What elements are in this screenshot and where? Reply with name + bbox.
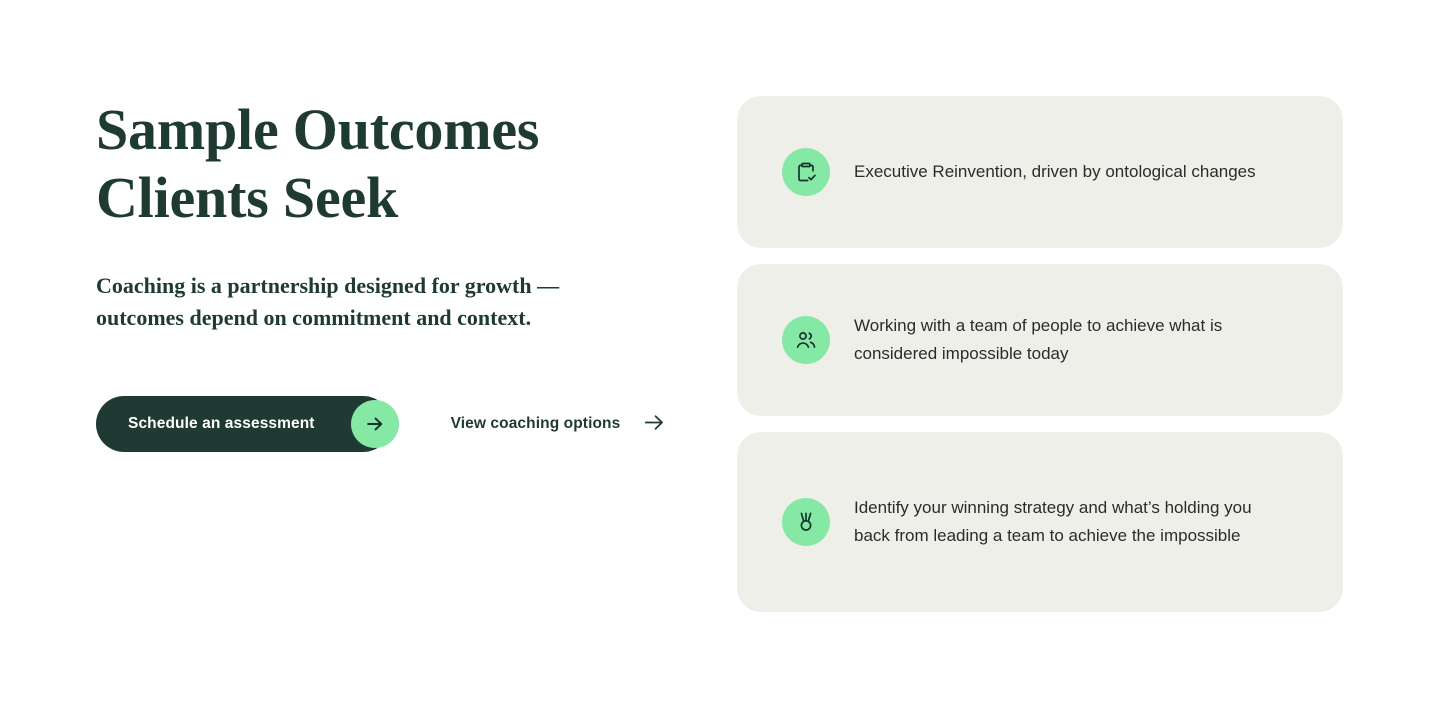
schedule-assessment-button[interactable]: Schedule an assessment: [96, 396, 391, 452]
arrow-right-icon: [642, 410, 667, 438]
outcomes-list: Executive Reinvention, driven by ontolog…: [737, 96, 1343, 612]
hero-section: Sample Outcomes Clients Seek Coaching is…: [96, 96, 676, 452]
outcome-card-text: Executive Reinvention, driven by ontolog…: [854, 158, 1256, 186]
outcome-card[interactable]: Identify your winning strategy and what’…: [737, 432, 1343, 612]
users-icon: [782, 316, 830, 364]
schedule-assessment-label: Schedule an assessment: [128, 415, 315, 433]
outcome-card[interactable]: Working with a team of people to achieve…: [737, 264, 1343, 416]
page-root: Sample Outcomes Clients Seek Coaching is…: [0, 0, 1440, 708]
outcome-card-text: Working with a team of people to achieve…: [854, 312, 1284, 368]
clipboard-check-icon: [782, 148, 830, 196]
page-title: Sample Outcomes Clients Seek: [96, 96, 566, 232]
medal-icon: [782, 498, 830, 546]
arrow-right-icon: [351, 400, 399, 448]
view-coaching-options-button[interactable]: View coaching options: [451, 402, 668, 446]
cta-row: Schedule an assessment View coaching opt…: [96, 396, 676, 452]
hero-subheading: Coaching is a partnership designed for g…: [96, 270, 641, 334]
outcome-card-text: Identify your winning strategy and what’…: [854, 494, 1284, 550]
view-coaching-options-label: View coaching options: [451, 415, 621, 433]
outcome-card[interactable]: Executive Reinvention, driven by ontolog…: [737, 96, 1343, 248]
